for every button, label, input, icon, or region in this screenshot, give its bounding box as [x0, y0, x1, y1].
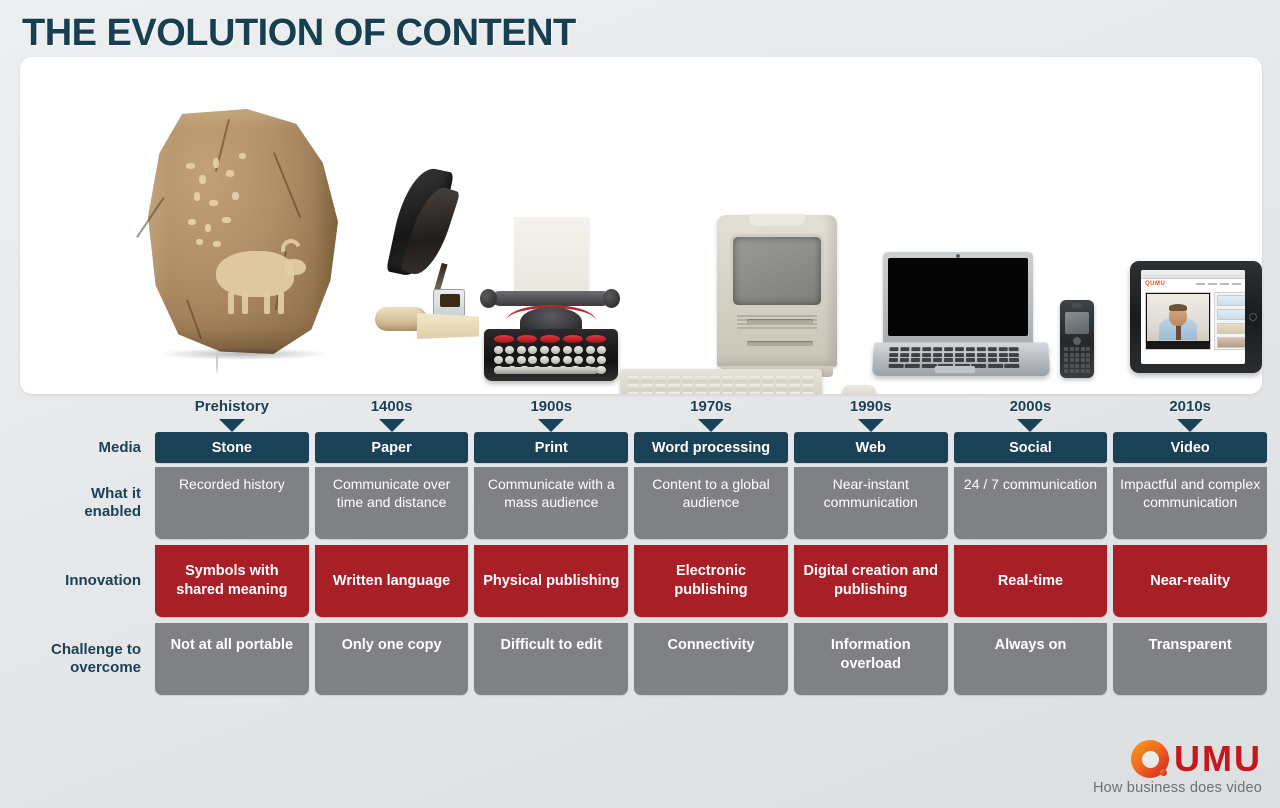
- qumu-site-logo: QUMU: [1145, 281, 1165, 287]
- tablet-image: QUMU: [1130, 261, 1262, 373]
- vintage-typewriter-image: [480, 217, 620, 377]
- enabled-cells: Recorded history Communicate over time a…: [155, 467, 1280, 539]
- keyboard-key: [776, 376, 787, 382]
- enabled-row: What it enabled Recorded history Communi…: [0, 467, 1280, 539]
- video-controls-bar: [1147, 341, 1209, 348]
- keyboard-key: [628, 376, 639, 382]
- laptop-screen: [888, 258, 1028, 336]
- petroglyph-figure: [188, 219, 196, 225]
- enabled-cell: Near-instant communication: [794, 467, 948, 539]
- era-column: 2000s: [954, 398, 1108, 432]
- keyboard-keys: [628, 376, 814, 394]
- era-column: 1400s: [315, 398, 469, 432]
- typewriter-key: [494, 346, 503, 354]
- laptop-trackpad: [935, 366, 975, 373]
- era-column: 2010s: [1113, 398, 1267, 432]
- phone-key: [1086, 369, 1090, 373]
- phone-key: [1081, 358, 1085, 362]
- challenge-cell: Not at all portable: [155, 623, 309, 695]
- keyboard-key: [695, 392, 706, 394]
- typewriter-key: [563, 335, 583, 343]
- phone-key: [1070, 364, 1074, 368]
- scroll-sheet: [417, 313, 479, 339]
- innovation-cell: Electronic publishing: [634, 545, 788, 617]
- site-nav-item: [1232, 283, 1241, 285]
- media-cell: Stone: [155, 432, 309, 463]
- keyboard-key: [735, 384, 746, 390]
- keyboard-row: [628, 392, 814, 394]
- computer-screen: [733, 237, 821, 305]
- innovation-cells: Symbols with shared meaning Written lang…: [155, 545, 1280, 617]
- typewriter-key: [517, 356, 526, 364]
- phone-key: [1064, 347, 1068, 351]
- challenge-cell: Transparent: [1113, 623, 1267, 695]
- keyboard-key: [695, 376, 706, 382]
- media-cell: Paper: [315, 432, 469, 463]
- keyboard-key: [641, 392, 652, 394]
- challenge-cell: Difficult to edit: [474, 623, 628, 695]
- keyboard-key: [802, 392, 813, 394]
- enabled-cell: Content to a global audience: [634, 467, 788, 539]
- keyboard-key: [776, 384, 787, 390]
- challenge-row: Challenge to overcome Not at all portabl…: [0, 623, 1280, 695]
- laptop-key: [988, 358, 998, 362]
- keyboard-key: [789, 376, 800, 382]
- phone-key: [1070, 353, 1074, 357]
- keyboard-key: [762, 376, 773, 382]
- laptop-key: [944, 358, 953, 362]
- video-frame: [1147, 294, 1209, 348]
- typewriter-key: [505, 356, 514, 364]
- phone-key-row: [1064, 358, 1090, 362]
- petroglyph-bull: [216, 251, 294, 297]
- phone-key: [1064, 358, 1068, 362]
- petroglyph-figure: [213, 158, 219, 168]
- keyboard-key: [682, 384, 693, 390]
- keyboard-key: [722, 392, 733, 394]
- keyboard-key: [802, 384, 813, 390]
- typewriter-key: [563, 346, 572, 354]
- typewriter-knob-left: [480, 289, 497, 308]
- phone-key: [1064, 353, 1068, 357]
- innovation-cell: Near-reality: [1113, 545, 1267, 617]
- typewriter-key: [517, 346, 526, 354]
- triangle-down-icon: [538, 419, 564, 432]
- computer-vent: [737, 315, 817, 317]
- petroglyph-figure: [194, 192, 200, 201]
- vintage-computer-image: [717, 215, 837, 367]
- ink: [440, 294, 460, 307]
- triangle-down-icon: [379, 419, 405, 432]
- media-row: Media Stone Paper Print Word processing …: [0, 432, 1280, 463]
- keyboard-key: [776, 392, 787, 394]
- laptop-key: [911, 358, 921, 362]
- laptop-key: [998, 353, 1008, 357]
- laptop-key: [966, 353, 975, 357]
- keyboard-key: [762, 384, 773, 390]
- phone-screen: [1065, 312, 1089, 334]
- petroglyph-figure: [226, 170, 234, 177]
- phone-earpiece: [1072, 303, 1082, 308]
- rock-body: [148, 109, 338, 354]
- typewriter-key: [586, 346, 595, 354]
- challenge-cell: Information overload: [794, 623, 948, 695]
- petroglyph-figure: [199, 175, 206, 184]
- typewriter-key: [574, 346, 583, 354]
- keyboard-key: [628, 384, 639, 390]
- keyboard-key: [802, 376, 813, 382]
- era-header-row: Prehistory 1400s 1900s 1970s 1990s 2000s: [0, 398, 1280, 432]
- enabled-cell: 24 / 7 communication: [954, 467, 1108, 539]
- smartphone-image: [1060, 300, 1094, 378]
- keyboard-cord: [216, 349, 218, 373]
- logo-q-icon: [1131, 740, 1169, 778]
- laptop-key: [933, 347, 942, 351]
- phone-key: [1064, 369, 1068, 373]
- sidebar-tile: [1217, 337, 1245, 348]
- laptop-key: [889, 363, 904, 367]
- innovation-cell: Symbols with shared meaning: [155, 545, 309, 617]
- petroglyph-figure: [186, 163, 195, 169]
- typewriter-key: [540, 335, 560, 343]
- logo-q-dot: [1160, 769, 1167, 776]
- phone-keyboard: [1064, 347, 1090, 373]
- phone-key: [1081, 347, 1085, 351]
- logo-mark: UMU: [1093, 739, 1262, 779]
- phone-key: [1081, 353, 1085, 357]
- page-title: THE EVOLUTION OF CONTENT: [22, 12, 576, 55]
- computer-vent: [737, 327, 817, 329]
- bull-leg: [228, 292, 234, 314]
- laptop-key: [955, 353, 964, 357]
- keyboard-key: [641, 376, 652, 382]
- media-cell: Video: [1113, 432, 1267, 463]
- hero-image-panel: QUMU: [20, 57, 1262, 394]
- tablet-home-button: [1249, 313, 1257, 321]
- keyboard-key: [668, 384, 679, 390]
- laptop-key: [911, 353, 921, 357]
- keyboard-key: [735, 392, 746, 394]
- era-cells: Prehistory 1400s 1900s 1970s 1990s 2000s: [155, 398, 1280, 432]
- phone-key: [1075, 347, 1079, 351]
- site-nav-item: [1220, 283, 1229, 285]
- laptop-key: [889, 353, 899, 357]
- laptop-key: [976, 347, 985, 351]
- era-row-spacer: [0, 398, 155, 432]
- laptop-key: [944, 347, 953, 351]
- era-label: 1900s: [474, 398, 628, 419]
- media-cell: Web: [794, 432, 948, 463]
- sidebar-tile: [1217, 323, 1245, 334]
- bull-leg: [278, 292, 284, 314]
- phone-key: [1070, 358, 1074, 362]
- triangle-down-icon: [1017, 419, 1043, 432]
- typewriter-key-row: [494, 346, 606, 354]
- petroglyph-figure: [205, 224, 211, 232]
- phone-key: [1075, 364, 1079, 368]
- typewriter-key: [540, 346, 549, 354]
- phone-key: [1086, 353, 1090, 357]
- petroglyph-figure: [196, 239, 203, 245]
- phone-key: [1070, 369, 1074, 373]
- laptop-key: [1004, 363, 1019, 367]
- typewriter-key: [528, 346, 537, 354]
- era-label: Prehistory: [155, 398, 309, 419]
- laptop-key: [944, 353, 953, 357]
- keyboard-key: [641, 384, 652, 390]
- typewriter-key: [551, 346, 560, 354]
- petroglyph-figure: [209, 200, 218, 206]
- keyboard-row: [628, 384, 814, 390]
- laptop-key: [1009, 353, 1019, 357]
- laptop-key-row: [889, 353, 1019, 357]
- typewriter-key-row: [494, 335, 606, 343]
- keyboard-key: [789, 392, 800, 394]
- typewriter-key: [597, 356, 606, 364]
- era-column: 1900s: [474, 398, 628, 432]
- computer-keyboard: [620, 369, 822, 394]
- keyboard-key: [655, 384, 666, 390]
- row-label-challenge: Challenge to overcome: [0, 623, 155, 695]
- phone-key: [1086, 358, 1090, 362]
- era-label: 1400s: [315, 398, 469, 419]
- laptop-key: [922, 347, 931, 351]
- phone-key: [1064, 364, 1068, 368]
- laptop-key-row: [889, 358, 1019, 362]
- triangle-down-icon: [1177, 419, 1203, 432]
- bull-leg: [264, 292, 270, 314]
- petroglyph-figure: [213, 241, 221, 247]
- site-nav: [1196, 283, 1241, 285]
- laptop-key: [966, 347, 975, 351]
- laptop-key: [966, 358, 975, 362]
- laptop-key: [900, 358, 910, 362]
- keyboard-row: [628, 376, 814, 382]
- typewriter-key: [574, 356, 583, 364]
- typewriter-key: [551, 356, 560, 364]
- keyboard-key: [655, 376, 666, 382]
- keyboard-key: [682, 392, 693, 394]
- keyboard-key: [749, 392, 760, 394]
- keyboard-key: [709, 376, 720, 382]
- laptop-key: [900, 347, 910, 351]
- typewriter-key: [494, 335, 514, 343]
- keyboard-key: [668, 376, 679, 382]
- logo-letters: UMU: [1174, 741, 1262, 777]
- laptop-key: [998, 347, 1008, 351]
- laptop-key: [1009, 347, 1019, 351]
- laptop-key-row: [889, 347, 1018, 351]
- row-label-enabled: What it enabled: [0, 467, 155, 539]
- rock-shadow: [159, 348, 326, 360]
- tablet-screen: QUMU: [1141, 270, 1245, 364]
- laptop-key: [900, 353, 910, 357]
- laptop-key: [955, 347, 964, 351]
- keyboard-key: [668, 392, 679, 394]
- era-column: 1970s: [634, 398, 788, 432]
- era-label: 1990s: [794, 398, 948, 419]
- laptop-key: [988, 363, 1003, 367]
- era-label: 2000s: [954, 398, 1108, 419]
- laptop-webcam: [956, 254, 960, 258]
- laptop-key: [922, 358, 932, 362]
- typewriter-key: [563, 356, 572, 364]
- enabled-cell: Communicate with a mass audience: [474, 467, 628, 539]
- laptop-key: [955, 358, 964, 362]
- laptop-key: [889, 347, 899, 351]
- sidebar-tile: [1217, 309, 1245, 320]
- typewriter-key: [517, 335, 537, 343]
- typewriter-key: [586, 335, 606, 343]
- keyboard-key: [735, 376, 746, 382]
- sidebar-panel: [1214, 292, 1245, 350]
- quill-and-scroll-image: [375, 167, 485, 377]
- laptop-key: [922, 353, 932, 357]
- enabled-cell: Impactful and complex communication: [1113, 467, 1267, 539]
- petroglyph-figure: [232, 192, 239, 200]
- bull-body: [216, 251, 294, 297]
- keyboard-key: [709, 392, 720, 394]
- petroglyph-figure: [222, 217, 231, 223]
- typewriter-space-bar: [494, 367, 598, 374]
- keyboard-key: [749, 384, 760, 390]
- site-nav-item: [1196, 283, 1205, 285]
- challenge-cell: Connectivity: [634, 623, 788, 695]
- site-nav-item: [1208, 283, 1217, 285]
- triangle-down-icon: [858, 419, 884, 432]
- typewriter-knob-right: [603, 289, 620, 308]
- keyboard-key: [762, 392, 773, 394]
- laptop-key: [977, 358, 987, 362]
- keyboard-key: [722, 376, 733, 382]
- keyboard-key: [682, 376, 693, 382]
- keyboard-key: [789, 384, 800, 390]
- video-player: [1145, 292, 1211, 350]
- laptop-keyboard: [889, 347, 1020, 367]
- challenge-cell: Only one copy: [315, 623, 469, 695]
- era-label: 1970s: [634, 398, 788, 419]
- floppy-drive-slot: [747, 319, 813, 324]
- laptop-image: [873, 252, 1049, 382]
- row-label-innovation: Innovation: [0, 545, 155, 617]
- laptop-key: [977, 353, 986, 357]
- computer-handle: [749, 214, 805, 226]
- typewriter-key: [597, 346, 606, 354]
- era-column: Prehistory: [155, 398, 309, 432]
- laptop-key: [933, 353, 942, 357]
- enabled-cell: Recorded history: [155, 467, 309, 539]
- innovation-cell: Written language: [315, 545, 469, 617]
- computer-mouse: [842, 385, 876, 394]
- phone-key: [1081, 369, 1085, 373]
- phone-key-row: [1064, 369, 1090, 373]
- petroglyph-figure: [239, 153, 246, 159]
- innovation-cell: Digital creation and publishing: [794, 545, 948, 617]
- media-cell: Social: [954, 432, 1108, 463]
- typewriter-key: [586, 356, 595, 364]
- media-cell: Word processing: [634, 432, 788, 463]
- keyboard-key: [749, 376, 760, 382]
- bull-head: [284, 259, 306, 275]
- phone-key-row: [1064, 353, 1090, 357]
- laptop-key: [889, 358, 899, 362]
- keyboard-key: [722, 384, 733, 390]
- era-column: 1990s: [794, 398, 948, 432]
- innovation-row: Innovation Symbols with shared meaning W…: [0, 545, 1280, 617]
- media-cells: Stone Paper Print Word processing Web So…: [155, 432, 1280, 463]
- media-cell: Print: [474, 432, 628, 463]
- phone-key: [1086, 347, 1090, 351]
- phone-key: [1075, 358, 1079, 362]
- phone-key: [1075, 369, 1079, 373]
- enabled-cell: Communicate over time and distance: [315, 467, 469, 539]
- innovation-cell: Real-time: [954, 545, 1108, 617]
- laptop-key: [987, 347, 996, 351]
- row-label-media: Media: [0, 432, 155, 463]
- challenge-cell: Always on: [954, 623, 1108, 695]
- phone-key: [1081, 364, 1085, 368]
- triangle-down-icon: [698, 419, 724, 432]
- keyboard-key: [655, 392, 666, 394]
- laptop-key: [905, 363, 920, 367]
- phone-trackball: [1073, 337, 1081, 345]
- typewriter-roller: [492, 291, 610, 306]
- phone-key-row: [1064, 347, 1090, 351]
- phone-key: [1075, 353, 1079, 357]
- typewriter-key: [528, 356, 537, 364]
- qumu-logo: UMU How business does video: [1093, 739, 1262, 796]
- laptop-key: [999, 358, 1009, 362]
- browser-chrome-bar: [1141, 270, 1245, 279]
- keyboard-key: [709, 384, 720, 390]
- phone-key: [1070, 347, 1074, 351]
- innovation-cell: Physical publishing: [474, 545, 628, 617]
- bull-leg: [242, 292, 248, 314]
- cave-painting-rock-image: [148, 109, 338, 354]
- inkwell: [433, 289, 465, 317]
- typewriter-key: [494, 356, 503, 364]
- phone-key-row: [1064, 364, 1090, 368]
- era-label: 2010s: [1113, 398, 1267, 419]
- logo-tagline: How business does video: [1093, 780, 1262, 796]
- challenge-cells: Not at all portable Only one copy Diffic…: [155, 623, 1280, 695]
- laptop-key: [1009, 358, 1019, 362]
- laptop-key: [933, 358, 943, 362]
- evolution-timeline-table: Prehistory 1400s 1900s 1970s 1990s 2000s: [0, 398, 1280, 695]
- typewriter-key: [540, 356, 549, 364]
- keyboard-key: [628, 392, 639, 394]
- typewriter-key-row: [494, 356, 606, 364]
- phone-key: [1086, 364, 1090, 368]
- typewriter-key: [505, 346, 514, 354]
- disk-drive-slot: [747, 341, 813, 346]
- sidebar-tile: [1217, 295, 1245, 306]
- keyboard-key: [695, 384, 706, 390]
- presenter-hair: [1169, 304, 1187, 311]
- laptop-base: [872, 342, 1050, 376]
- laptop-key: [911, 347, 921, 351]
- triangle-down-icon: [219, 419, 245, 432]
- laptop-lid: [883, 252, 1033, 344]
- laptop-key: [987, 353, 997, 357]
